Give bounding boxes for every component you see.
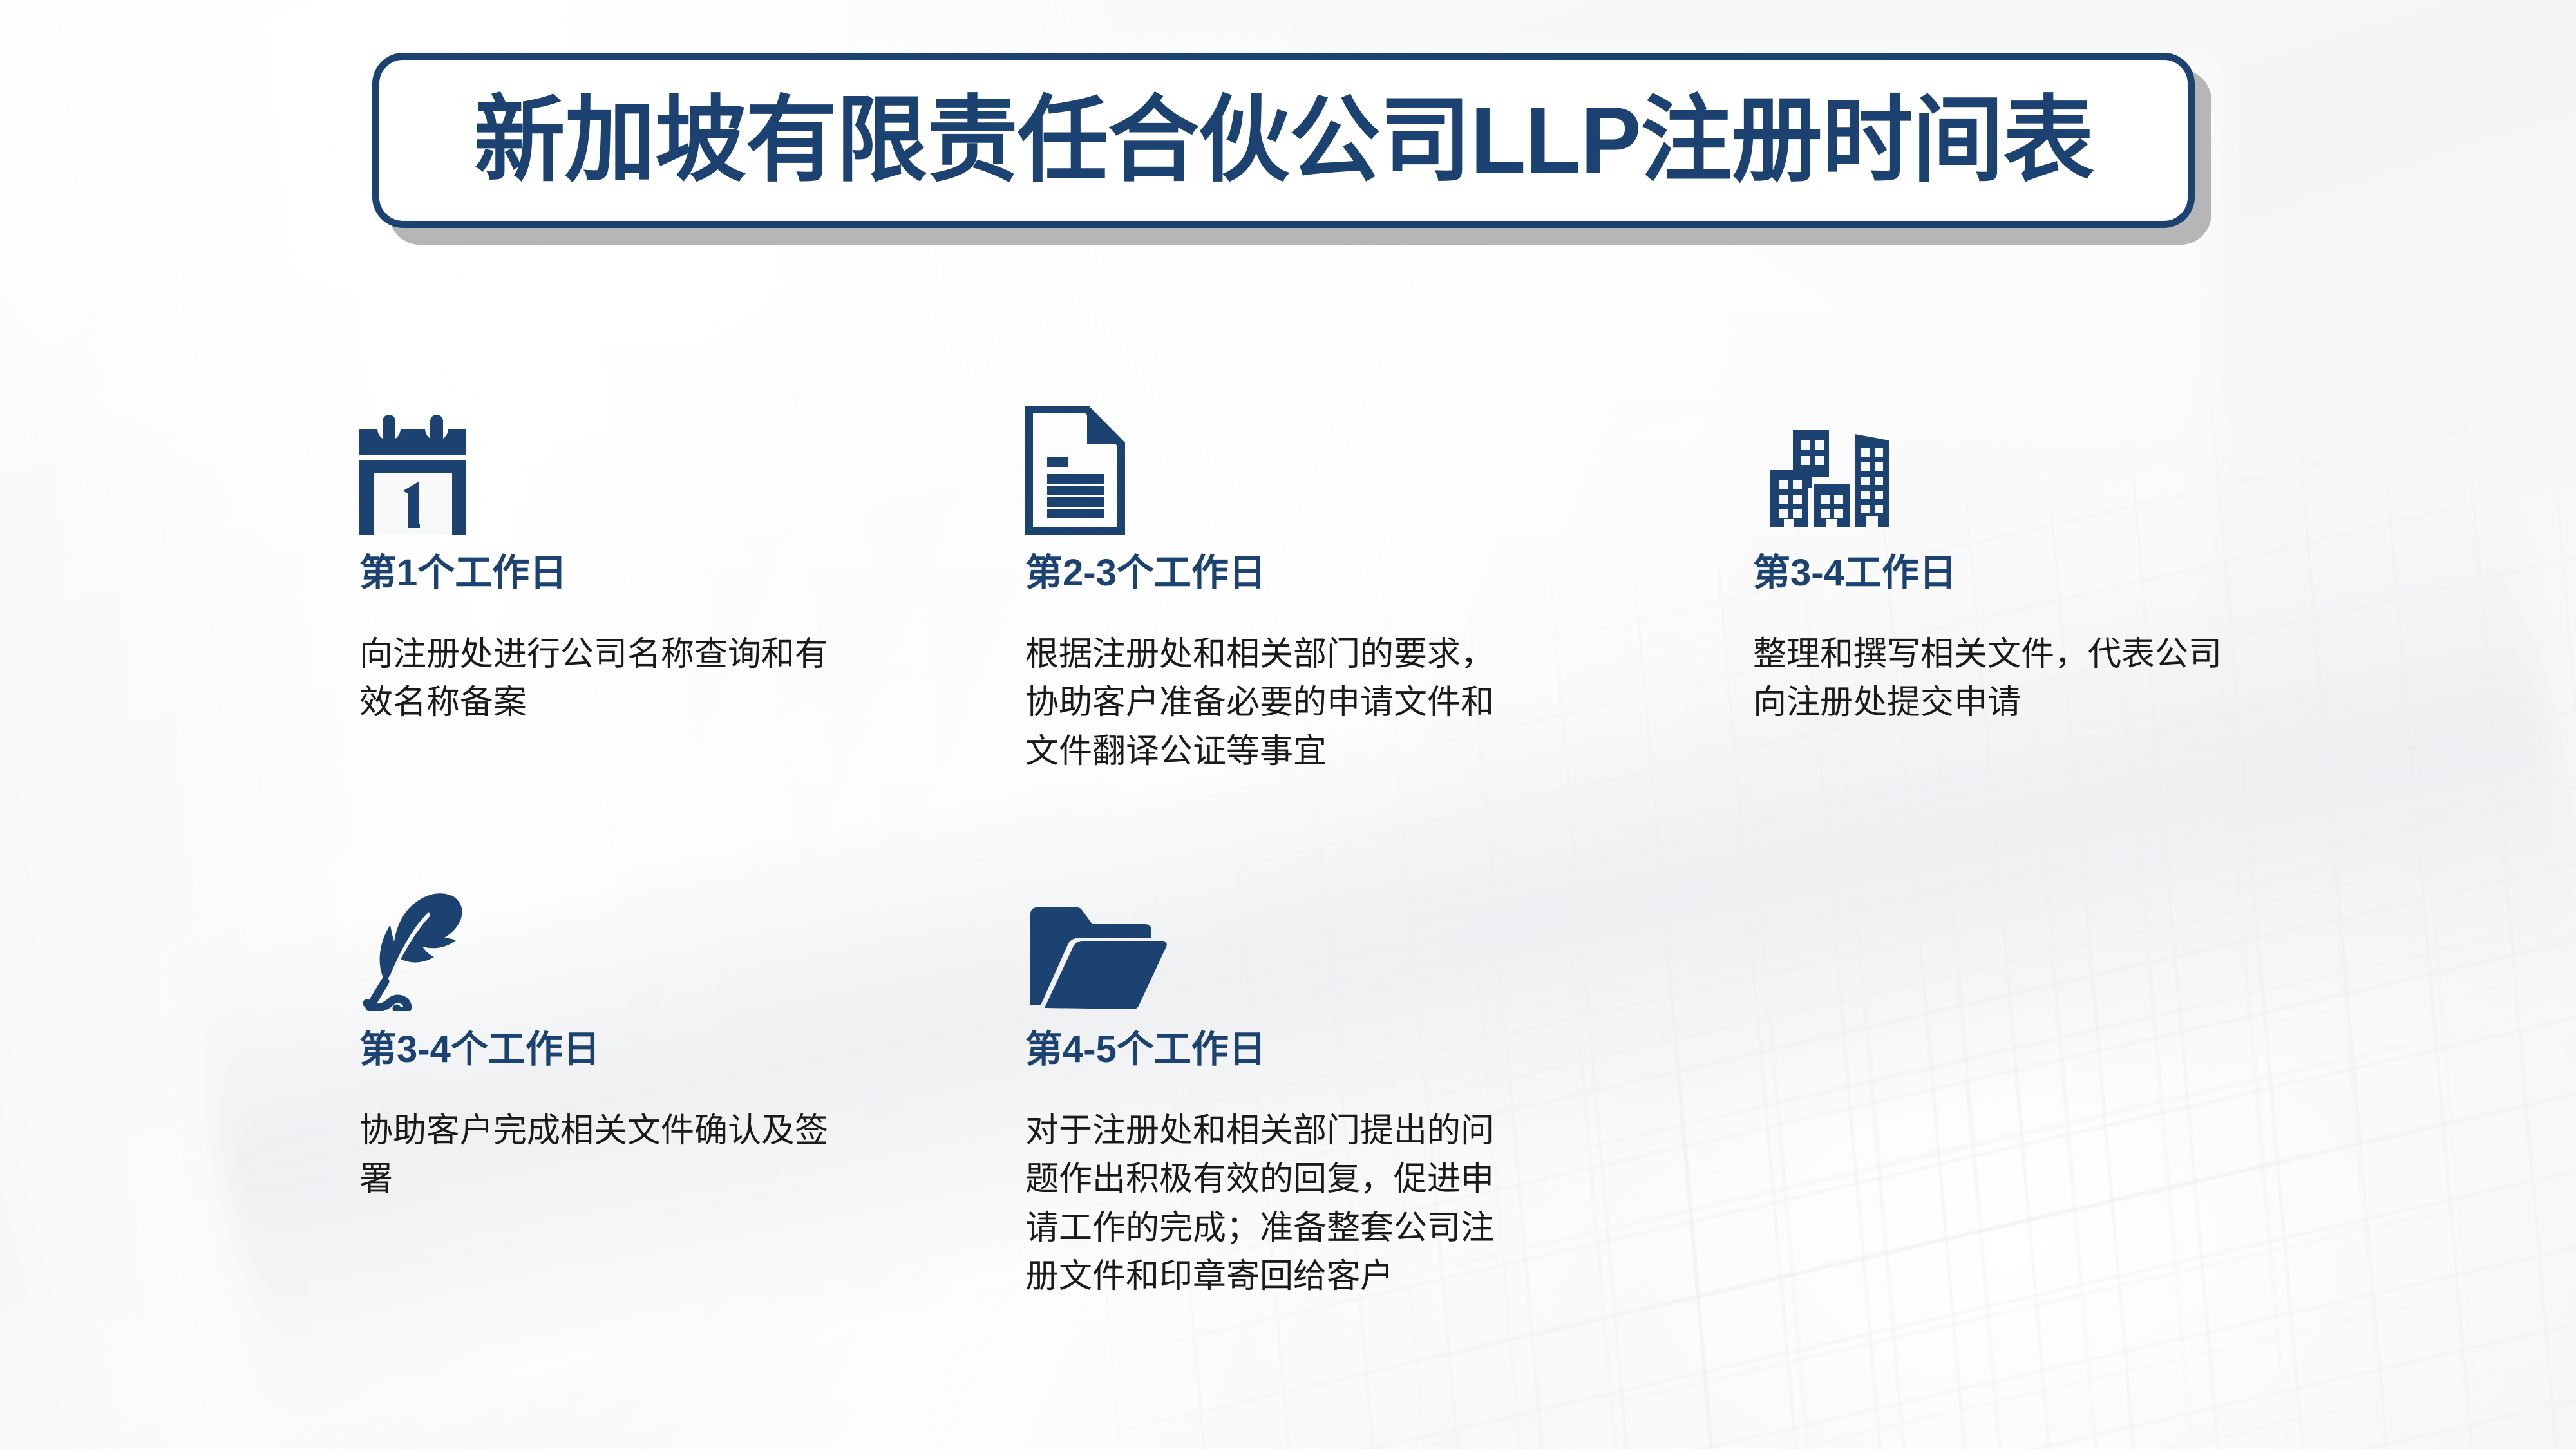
step-1-heading: 第1个工作日 (359, 553, 939, 594)
step-4-body: 协助客户完成相关文件确认及签 署 (359, 1107, 875, 1204)
step-card-5[interactable]: 第4-5个工作日 对于注册处和相关部门提出的问 题作出积极有效的回复，促进申 请… (1025, 863, 1605, 1302)
document-icon (1025, 406, 1125, 535)
step-2-heading: 第2-3个工作日 (1025, 553, 1605, 594)
step-2-icon-slot (1025, 386, 1605, 535)
step-card-3[interactable]: 第3-4工作日 整理和撰写相关文件，代表公司 向注册处提交申请 (1753, 386, 2333, 728)
step-card-2[interactable]: 第2-3个工作日 根据注册处和相关部门的要求， 协助客户准备必要的申请文件和 文… (1025, 386, 1605, 776)
quill-feather-icon (359, 887, 469, 1011)
buildings-icon (1753, 419, 1896, 535)
step-3-heading: 第3-4工作日 (1753, 553, 2333, 594)
step-2-body: 根据注册处和相关部门的要求， 协助客户准备必要的申请文件和 文件翻译公证等事宜 (1025, 630, 1540, 776)
step-card-1[interactable]: 第1个工作日 向注册处进行公司名称查询和有 效名称备案 (359, 386, 939, 728)
step-5-heading: 第4-5个工作日 (1025, 1029, 1605, 1071)
open-folder-icon (1025, 905, 1167, 1011)
step-card-4[interactable]: 第3-4个工作日 协助客户完成相关文件确认及签 署 (359, 863, 939, 1204)
step-5-icon-slot (1025, 863, 1605, 1011)
step-4-heading: 第3-4个工作日 (359, 1029, 939, 1071)
steps-grid: 第1个工作日 向注册处进行公司名称查询和有 效名称备案 第2-3个工作日 根据注… (0, 0, 2576, 1449)
step-1-icon-slot (359, 386, 939, 535)
slide-canvas: 新加坡有限责任合伙公司LLP注册时间表 第1个工作日 向注册处进行公司名称查询和… (0, 0, 2576, 1449)
step-3-body: 整理和撰写相关文件，代表公司 向注册处提交申请 (1753, 630, 2268, 728)
step-3-icon-slot (1753, 386, 2333, 535)
calendar-icon (359, 415, 466, 535)
step-1-body: 向注册处进行公司名称查询和有 效名称备案 (359, 630, 875, 728)
step-4-icon-slot (359, 863, 939, 1011)
step-5-body: 对于注册处和相关部门提出的问 题作出积极有效的回复，促进申 请工作的完成；准备整… (1025, 1107, 1540, 1302)
